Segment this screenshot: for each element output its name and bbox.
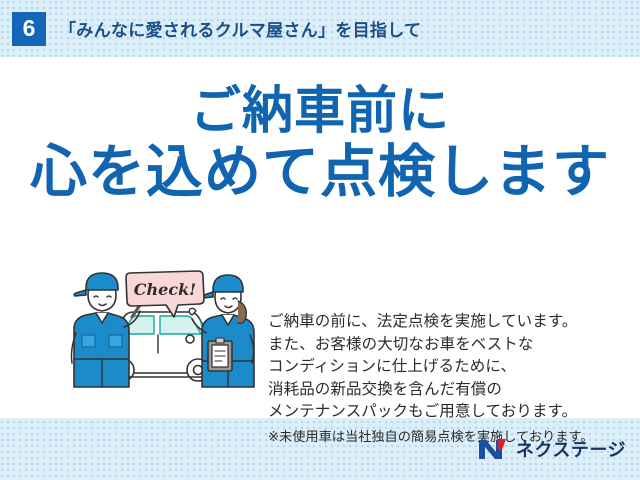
illustration-svg: Check! [62,255,262,395]
speech-bubble-label: Check! [134,280,196,299]
body-line: また、お客様の大切なお車をベストな [268,334,636,357]
nextage-logo-mark-icon [478,437,508,461]
headline-line-2: 心を込めて点検します [0,143,640,202]
body-line: コンディションに仕上げるために、 [268,356,636,379]
promotional-banner: 6 「みんなに愛されるクルマ屋さん」を目指して ご納車前に 心を込めて点検します [0,0,640,480]
banner-header: 6 「みんなに愛されるクルマ屋さん」を目指して [0,0,640,57]
mechanics-illustration: Check! [62,255,262,395]
lower-section: Check! ご納車の前に、法定点検を実施しています。 また、お客様の大切なお車… [0,253,640,418]
body-line: ご納車の前に、法定点検を実施しています。 [268,311,636,334]
headline-line-1: ご納車前に [0,84,640,137]
nextage-logo-text: ネクステージ [516,436,626,462]
headline-block: ご納車前に 心を込めて点検します [0,84,640,202]
content-card: ご納車前に 心を込めて点検します [0,57,640,418]
banner-footer: ネクステージ [0,418,640,480]
body-line: 消耗品の新品交換を含んだ有償の [268,379,636,402]
nextage-logo: ネクステージ [478,436,626,462]
section-number-badge: 6 [12,12,46,46]
header-title: 「みんなに愛されるクルマ屋さん」を目指して [59,16,421,41]
